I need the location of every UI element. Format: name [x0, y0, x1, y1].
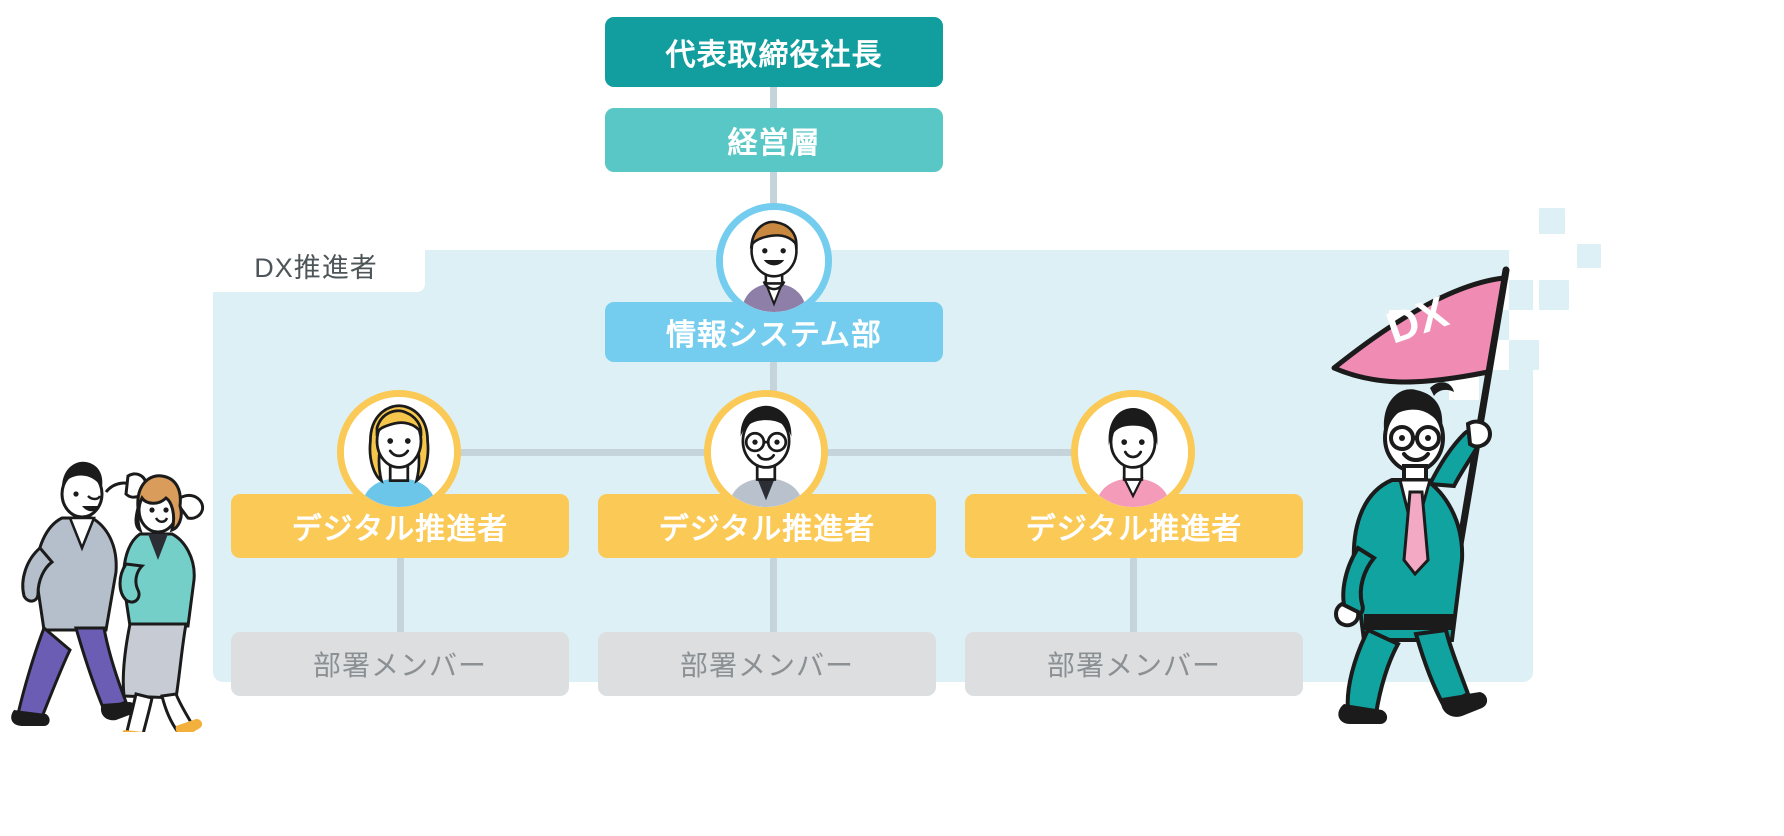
avatar-info-system-manager	[716, 203, 832, 319]
node-ceo[interactable]: 代表取締役社長	[605, 17, 943, 87]
org-chart-diagram: 代表取締役社長 経営層 情報システム部 デジタル推進者 デジタル推進者 デジタル…	[0, 0, 1784, 836]
avatar-icon	[723, 210, 825, 312]
avatar-digital-promoter-2	[704, 390, 828, 514]
node-department-member-1[interactable]: 部署メンバー	[231, 632, 569, 696]
avatar-icon	[711, 397, 821, 507]
running-woman-figure	[120, 476, 203, 732]
avatar-icon	[344, 397, 454, 507]
node-executive[interactable]: 経営層	[605, 108, 943, 172]
dx-promoter-label: DX推進者	[207, 238, 425, 292]
avatar-icon	[1078, 397, 1188, 507]
avatar-digital-promoter-3	[1071, 390, 1195, 514]
illustration-man-with-dx-flag: DX	[1318, 248, 1578, 728]
illustration-running-people	[10, 452, 260, 732]
avatar-digital-promoter-1	[337, 390, 461, 514]
node-department-member-3[interactable]: 部署メンバー	[965, 632, 1303, 696]
node-department-member-2[interactable]: 部署メンバー	[598, 632, 936, 696]
